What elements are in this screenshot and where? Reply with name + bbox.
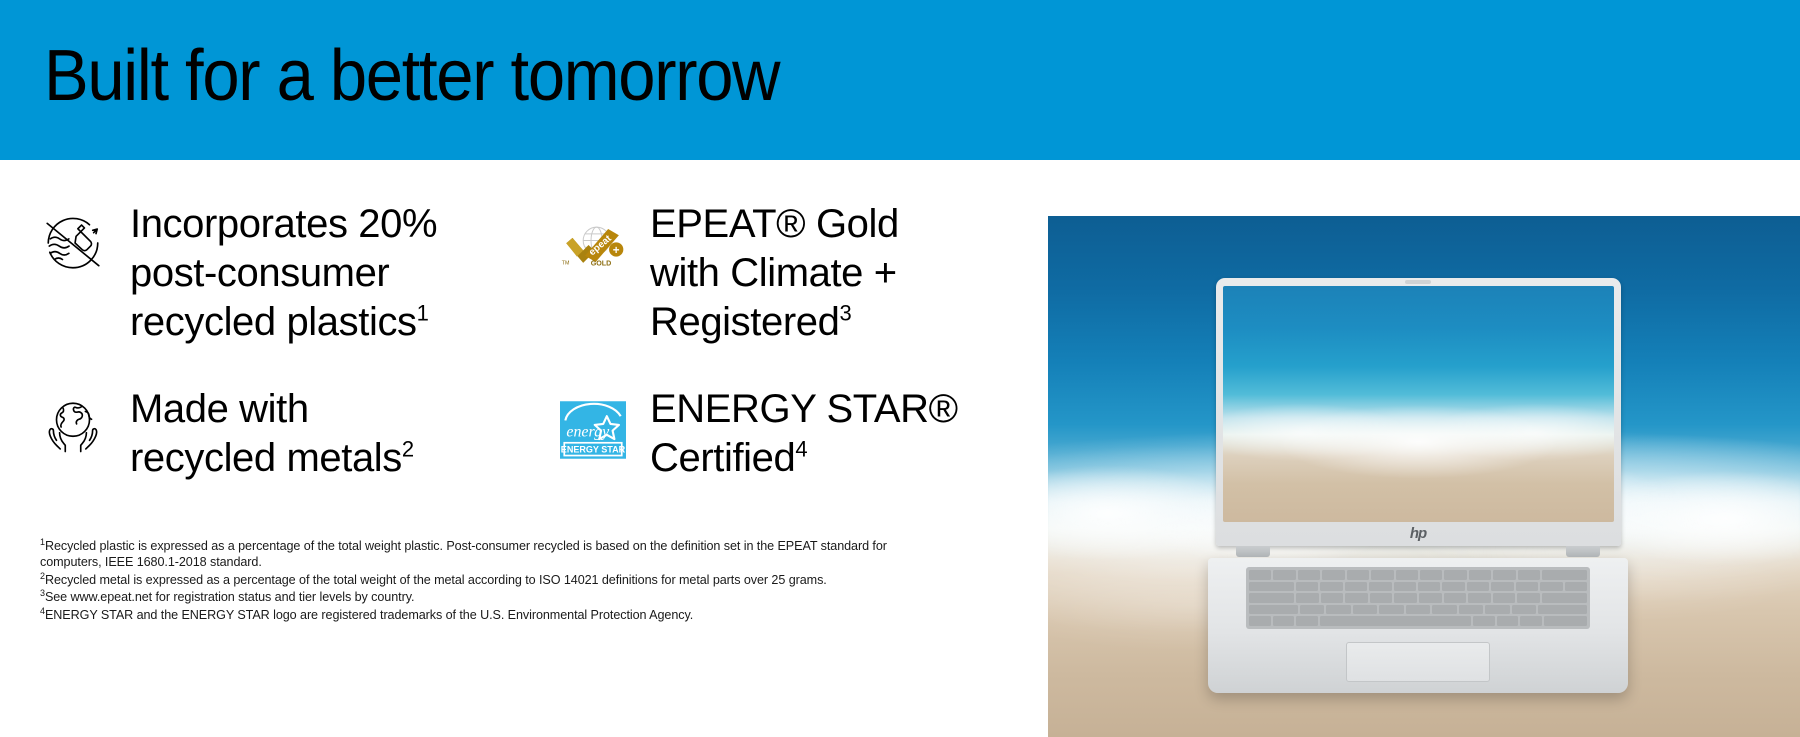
key: [1296, 582, 1318, 592]
key: [1298, 570, 1320, 580]
globe-in-hands-icon: [40, 395, 106, 461]
keyboard-row: [1249, 605, 1587, 615]
laptop-lid: hp: [1216, 278, 1621, 546]
epeat-tier: GOLD: [591, 260, 612, 268]
key: [1538, 605, 1587, 615]
key: [1326, 605, 1350, 615]
feature-line-1: Incorporates 20%: [130, 202, 437, 246]
key: [1542, 593, 1587, 603]
key: [1394, 593, 1417, 603]
feature-recycled-plastics: Incorporates 20% post-consumer recycled …: [40, 200, 540, 347]
footnote-text: ENERGY STAR and the ENERGY STAR logo are…: [45, 608, 693, 622]
footnote-item: 3See www.epeat.net for registration stat…: [40, 589, 940, 605]
page-title: Built for a better tomorrow: [44, 22, 779, 130]
epeat-trademark: TM: [562, 261, 570, 267]
key: [1249, 593, 1294, 603]
key: [1512, 605, 1536, 615]
key: [1420, 570, 1442, 580]
feature-energy-star: energy ENERGY STAR ENERGY STAR® Certifie…: [560, 385, 1030, 483]
feature-line-1: ENERGY STAR®: [650, 387, 958, 431]
footnotes-block: 1Recycled plastic is expressed as a perc…: [40, 538, 940, 624]
epeat-plus: +: [613, 245, 620, 257]
key: [1493, 593, 1516, 603]
laptop-base: [1208, 558, 1628, 693]
feature-line-2: post-consumer: [130, 251, 389, 295]
key: [1370, 593, 1393, 603]
key: [1394, 582, 1416, 592]
key: [1493, 570, 1515, 580]
laptop-screen: [1223, 286, 1614, 522]
feature-line-3: recycled plastics: [130, 300, 417, 344]
key: [1296, 593, 1319, 603]
laptop-product: hp: [1208, 278, 1628, 693]
ocean-bound-plastic-icon: [40, 210, 106, 276]
energy-star-badge: energy ENERGY STAR: [560, 397, 626, 463]
laptop-hinge-row: [1208, 546, 1628, 558]
key: [1347, 570, 1369, 580]
feature-epeat-gold: epeat + TM GOLD EPEAT® Gold with Climate…: [560, 200, 1030, 347]
key: [1396, 570, 1418, 580]
trackpad: [1346, 642, 1490, 682]
footnote-item: 4ENERGY STAR and the ENERGY STAR logo ar…: [40, 607, 940, 623]
key: [1296, 616, 1318, 626]
key: [1491, 582, 1513, 592]
key: [1369, 582, 1391, 592]
footnote-item: 2Recycled metal is expressed as a percen…: [40, 572, 940, 588]
feature-text: ENERGY STAR® Certified4: [650, 385, 958, 483]
footnote-text: See www.epeat.net for registration statu…: [45, 590, 414, 604]
key: [1467, 582, 1489, 592]
key: [1485, 605, 1509, 615]
feature-text: Made with recycled metals2: [130, 385, 414, 483]
key: [1321, 593, 1344, 603]
key: [1469, 570, 1491, 580]
epeat-gold-badge: epeat + TM GOLD: [560, 212, 626, 278]
key: [1516, 582, 1538, 592]
key: [1459, 605, 1483, 615]
feature-text: EPEAT® Gold with Climate + Registered3: [650, 200, 899, 347]
key: [1300, 605, 1324, 615]
key: [1419, 593, 1442, 603]
key: [1249, 570, 1271, 580]
marketing-banner-page: Built for a better tomorrow: [0, 0, 1800, 737]
key: [1345, 582, 1367, 592]
footnote-marker: 4: [795, 437, 807, 462]
feature-line-3: Registered: [650, 300, 839, 344]
feature-text: Incorporates 20% post-consumer recycled …: [130, 200, 437, 347]
keyboard-row: [1249, 616, 1587, 626]
keyboard-row: [1249, 593, 1587, 603]
webcam-icon: [1405, 280, 1431, 284]
key: [1273, 570, 1295, 580]
content-area: Incorporates 20% post-consumer recycled …: [0, 160, 1048, 737]
hinge-right: [1566, 546, 1600, 557]
key: [1468, 593, 1491, 603]
key: [1473, 616, 1495, 626]
key: [1406, 605, 1430, 615]
hinge-left: [1236, 546, 1270, 557]
key-space: [1320, 616, 1471, 626]
key: [1520, 616, 1542, 626]
keyboard-row: [1249, 570, 1587, 580]
footnote-text: Recycled metal is expressed as a percent…: [45, 573, 827, 587]
key: [1418, 582, 1440, 592]
feature-line-2: Certified: [650, 436, 795, 480]
key: [1320, 582, 1342, 592]
feature-grid: Incorporates 20% post-consumer recycled …: [0, 160, 1048, 560]
footnote-marker: 2: [402, 437, 414, 462]
key: [1249, 605, 1298, 615]
key: [1497, 616, 1519, 626]
key: [1442, 582, 1464, 592]
key: [1249, 616, 1271, 626]
keyboard-row: [1249, 582, 1587, 592]
key: [1345, 593, 1368, 603]
key: [1544, 616, 1587, 626]
key: [1540, 582, 1562, 592]
product-hero-image: hp: [1048, 216, 1800, 737]
key: [1273, 616, 1295, 626]
energy-star-caption: ENERGY STAR: [561, 444, 626, 454]
keyboard: [1246, 567, 1590, 629]
footnote-text: Recycled plastic is expressed as a perce…: [40, 539, 887, 569]
key: [1371, 570, 1393, 580]
feature-line-1: EPEAT® Gold: [650, 202, 899, 246]
key: [1322, 570, 1344, 580]
key: [1542, 570, 1587, 580]
footnote-marker: 3: [839, 301, 851, 326]
key: [1379, 605, 1403, 615]
feature-line-1: Made with: [130, 387, 309, 431]
key: [1517, 593, 1540, 603]
key: [1518, 570, 1540, 580]
footnote-marker: 1: [417, 301, 429, 326]
key: [1444, 570, 1466, 580]
key: [1353, 605, 1377, 615]
header-banner: Built for a better tomorrow: [0, 0, 1800, 160]
key: [1444, 593, 1467, 603]
key: [1249, 582, 1294, 592]
key: [1432, 605, 1456, 615]
hp-logo: hp: [1410, 525, 1426, 542]
feature-line-2: recycled metals: [130, 436, 402, 480]
key: [1565, 582, 1587, 592]
footnote-item: 1Recycled plastic is expressed as a perc…: [40, 538, 940, 571]
feature-recycled-metals: Made with recycled metals2: [40, 385, 540, 483]
feature-line-2: with Climate +: [650, 251, 897, 295]
